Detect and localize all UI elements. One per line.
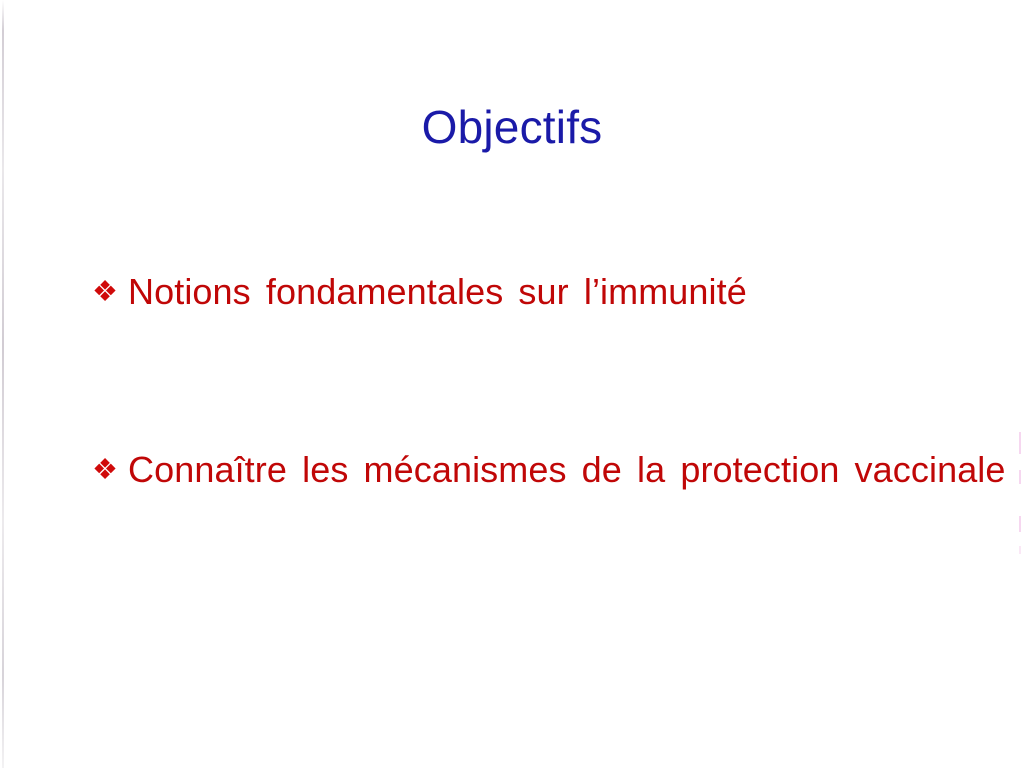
right-edge-artifact [1019, 516, 1021, 532]
presentation-slide: Objectifs ❖ Notions fondamentales sur l’… [0, 0, 1024, 768]
diamond-bullet-icon: ❖ [92, 450, 128, 490]
slide-title: Objectifs [0, 100, 1024, 154]
objectives-list: ❖ Notions fondamentales sur l’immunité ❖… [92, 272, 964, 491]
right-edge-artifact [1019, 546, 1021, 554]
list-item: ❖ Connaître les mécanismes de la protect… [92, 450, 964, 490]
right-edge-artifact [1019, 470, 1021, 484]
list-item: ❖ Notions fondamentales sur l’immunité [92, 272, 964, 312]
diamond-bullet-icon: ❖ [92, 272, 128, 312]
list-item-label: Connaître les mécanismes de la protectio… [128, 450, 1006, 490]
right-edge-artifact [1019, 432, 1021, 454]
list-item-label: Notions fondamentales sur l’immunité [128, 272, 747, 312]
